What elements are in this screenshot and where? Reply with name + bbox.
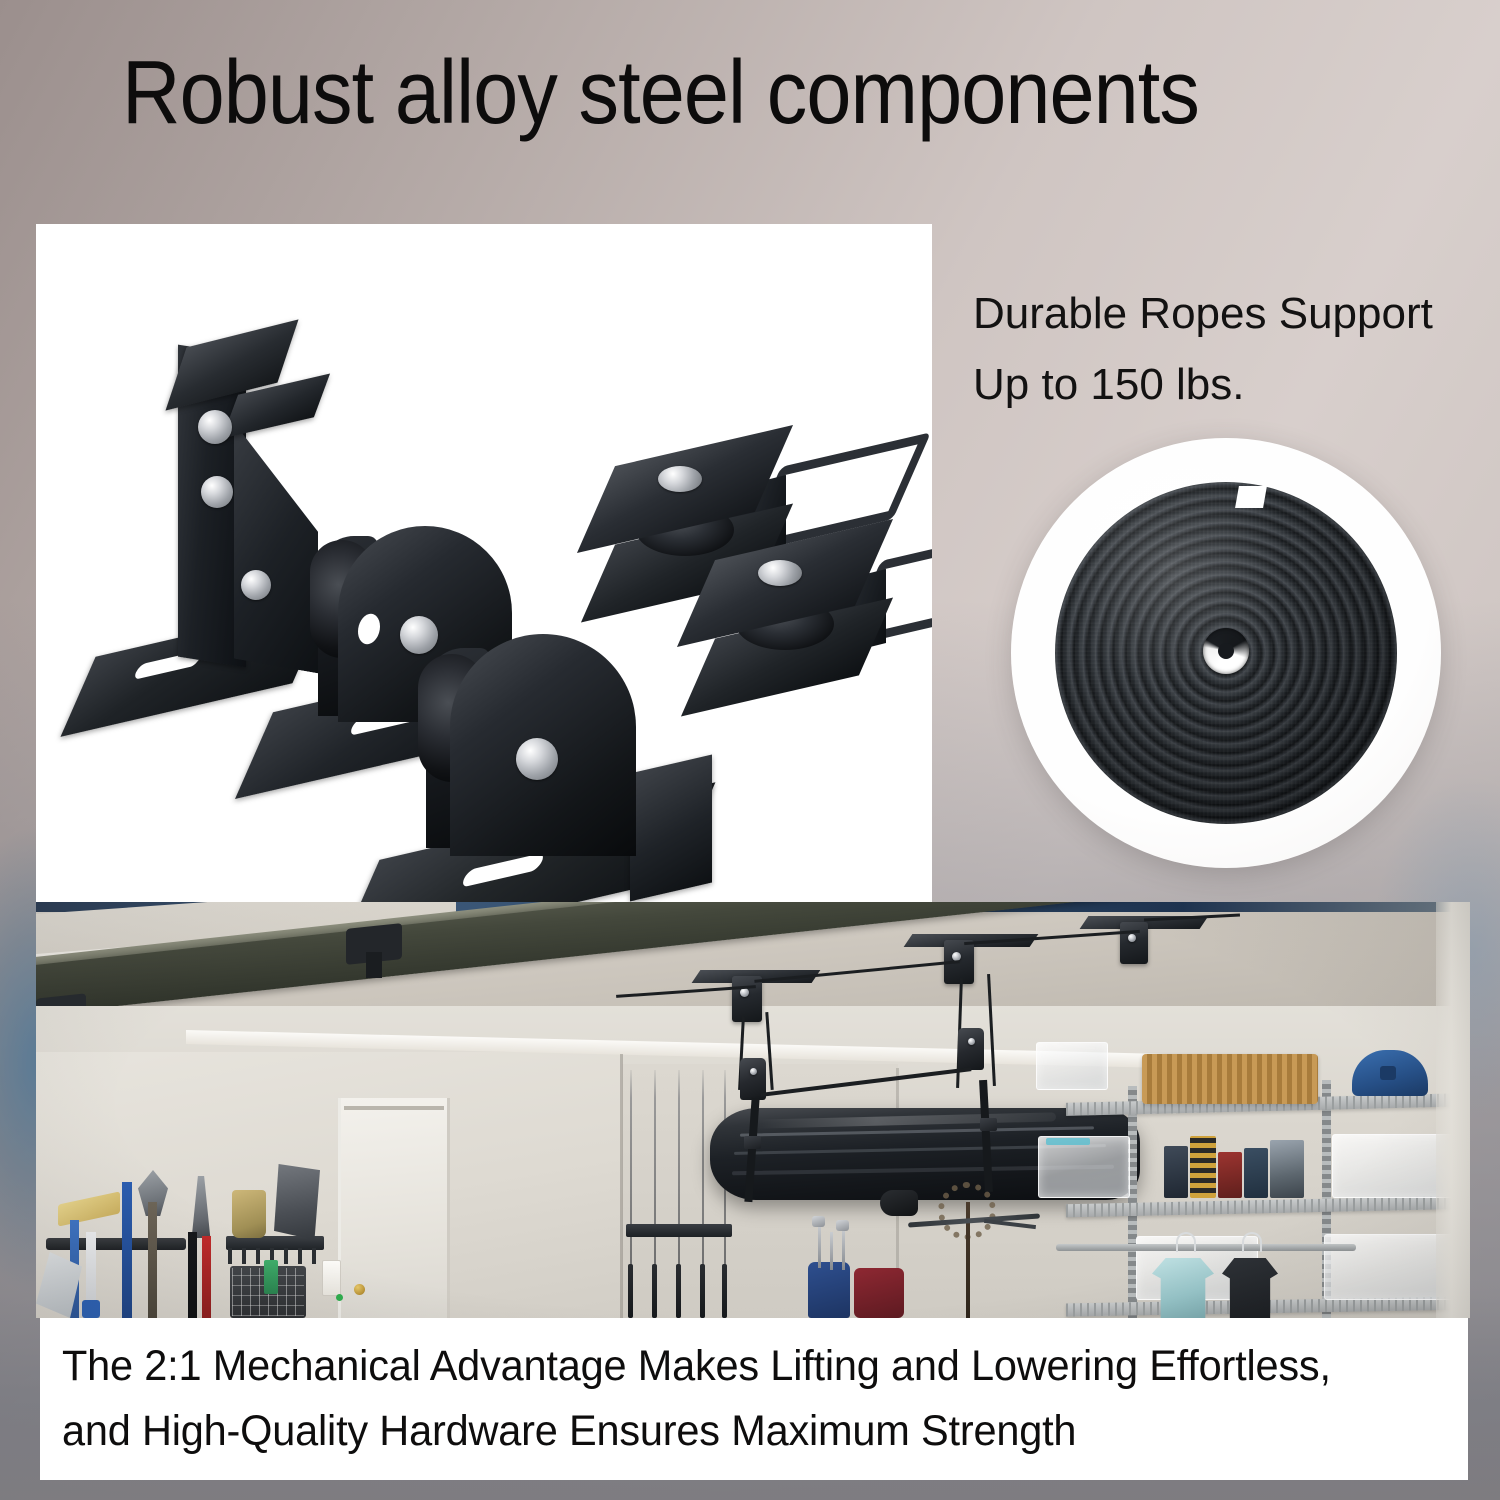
rivet-icon [201,476,233,508]
rivet-icon [758,560,802,586]
bracket-side-wing [630,755,712,902]
rivet-icon [516,738,558,780]
rope-feature-line-2: Up to 150 lbs. [973,349,1493,420]
rope-feature-text: Durable Ropes Support Up to 150 lbs. [973,278,1493,421]
hardware-render-stage [36,224,932,902]
hardware-product-panel [36,224,932,902]
caption-line-1: The 2:1 Mechanical Advantage Makes Lifti… [62,1334,1407,1399]
hardware-strap-pulley-lower [696,544,932,714]
caption-panel: The 2:1 Mechanical Advantage Makes Lifti… [40,1318,1468,1480]
coil-center-dot [1218,643,1234,659]
rope-feature-line-1: Durable Ropes Support [973,278,1493,349]
page-title: Robust alloy steel components [122,48,1199,138]
rivet-icon [198,410,232,444]
caption-text: The 2:1 Mechanical Advantage Makes Lifti… [62,1334,1407,1465]
photo-vignette [36,902,1470,1318]
strap-free-end [1235,486,1267,508]
bracket-wing-hole [358,611,380,646]
rope-coil-image [1011,438,1441,868]
rivet-icon [658,466,702,492]
caption-line-2: and High-Quality Hardware Ensures Maximu… [62,1399,1407,1464]
garage-scene-photo [36,902,1470,1318]
